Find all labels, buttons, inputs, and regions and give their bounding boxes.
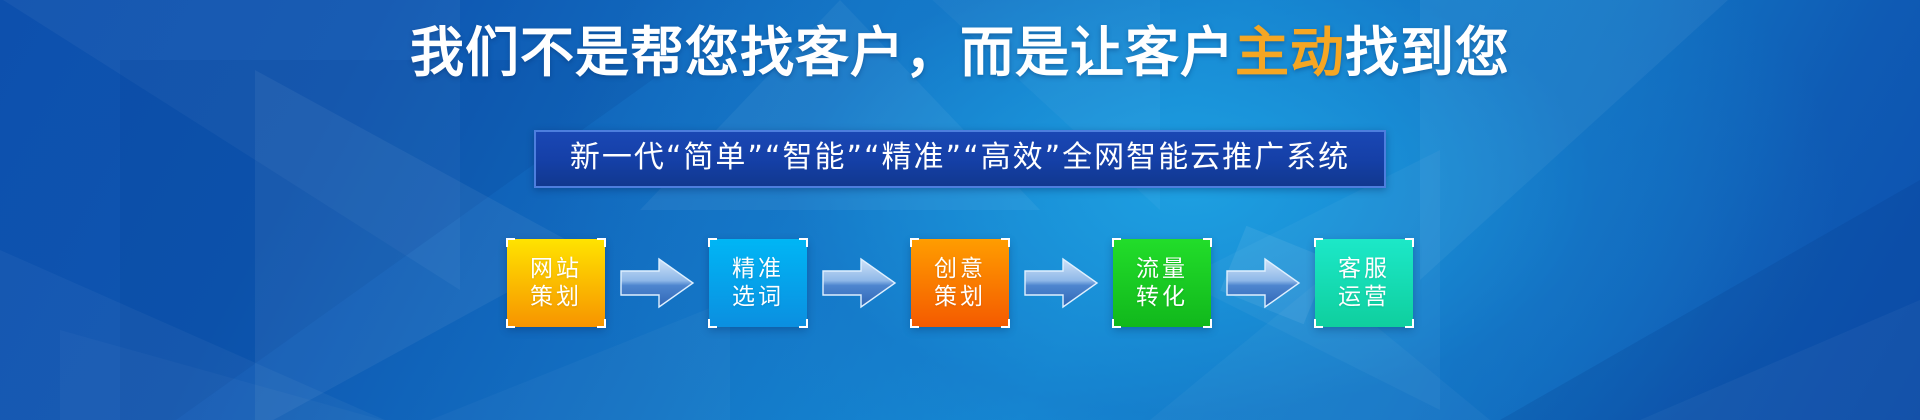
headline-part-2: 找到您 bbox=[1345, 21, 1510, 84]
flow-step-label-line1: 精准 bbox=[732, 255, 784, 283]
flow-arrow-1 bbox=[619, 255, 695, 311]
bg-facet-13 bbox=[60, 330, 400, 420]
flow-step-label-line2: 策划 bbox=[530, 283, 582, 311]
headline-highlight: 主动 bbox=[1235, 21, 1345, 84]
flow-arrow-3 bbox=[1023, 255, 1099, 311]
flow-arrow-2 bbox=[821, 255, 897, 311]
flow-step-customer-service-ops[interactable]: 客服 运营 bbox=[1315, 239, 1413, 327]
flow-step-website-planning[interactable]: 网站 策划 bbox=[507, 239, 605, 327]
chevron-right-arrow-icon bbox=[821, 255, 897, 311]
banner-subtitle: 新一代“简单”“智能”“精准”“高效”全网智能云推广系统 bbox=[534, 130, 1386, 188]
flow-step-label-line1: 客服 bbox=[1338, 255, 1390, 283]
flow-step-label-line2: 策划 bbox=[934, 283, 986, 311]
chevron-right-arrow-icon bbox=[1225, 255, 1301, 311]
flow-step-traffic-conversion[interactable]: 流量 转化 bbox=[1113, 239, 1211, 327]
flow-step-label-line2: 运营 bbox=[1338, 283, 1390, 311]
flow-step-creative-planning[interactable]: 创意 策划 bbox=[911, 239, 1009, 327]
banner-headline: 我们不是帮您找客户，而是让客户主动找到您 bbox=[0, 22, 1920, 84]
flow-step-precise-keywords[interactable]: 精准 选词 bbox=[709, 239, 807, 327]
banner-subtitle-wrap: 新一代“简单”“智能”“精准”“高效”全网智能云推广系统 bbox=[0, 130, 1920, 188]
flow-step-label-line1: 流量 bbox=[1136, 255, 1188, 283]
flow-step-label-line2: 转化 bbox=[1136, 283, 1188, 311]
chevron-right-arrow-icon bbox=[619, 255, 695, 311]
flow-step-label-line1: 网站 bbox=[530, 255, 582, 283]
chevron-right-arrow-icon bbox=[1023, 255, 1099, 311]
flow-arrow-4 bbox=[1225, 255, 1301, 311]
headline-part-1: 我们不是帮您找客户，而是让客户 bbox=[410, 21, 1235, 84]
process-flow: 网站 策划 精准 选词 bbox=[0, 228, 1920, 338]
promo-banner: 我们不是帮您找客户，而是让客户主动找到您 新一代“简单”“智能”“精准”“高效”… bbox=[0, 0, 1920, 420]
flow-step-label-line2: 选词 bbox=[732, 283, 784, 311]
flow-step-label-line1: 创意 bbox=[934, 255, 986, 283]
